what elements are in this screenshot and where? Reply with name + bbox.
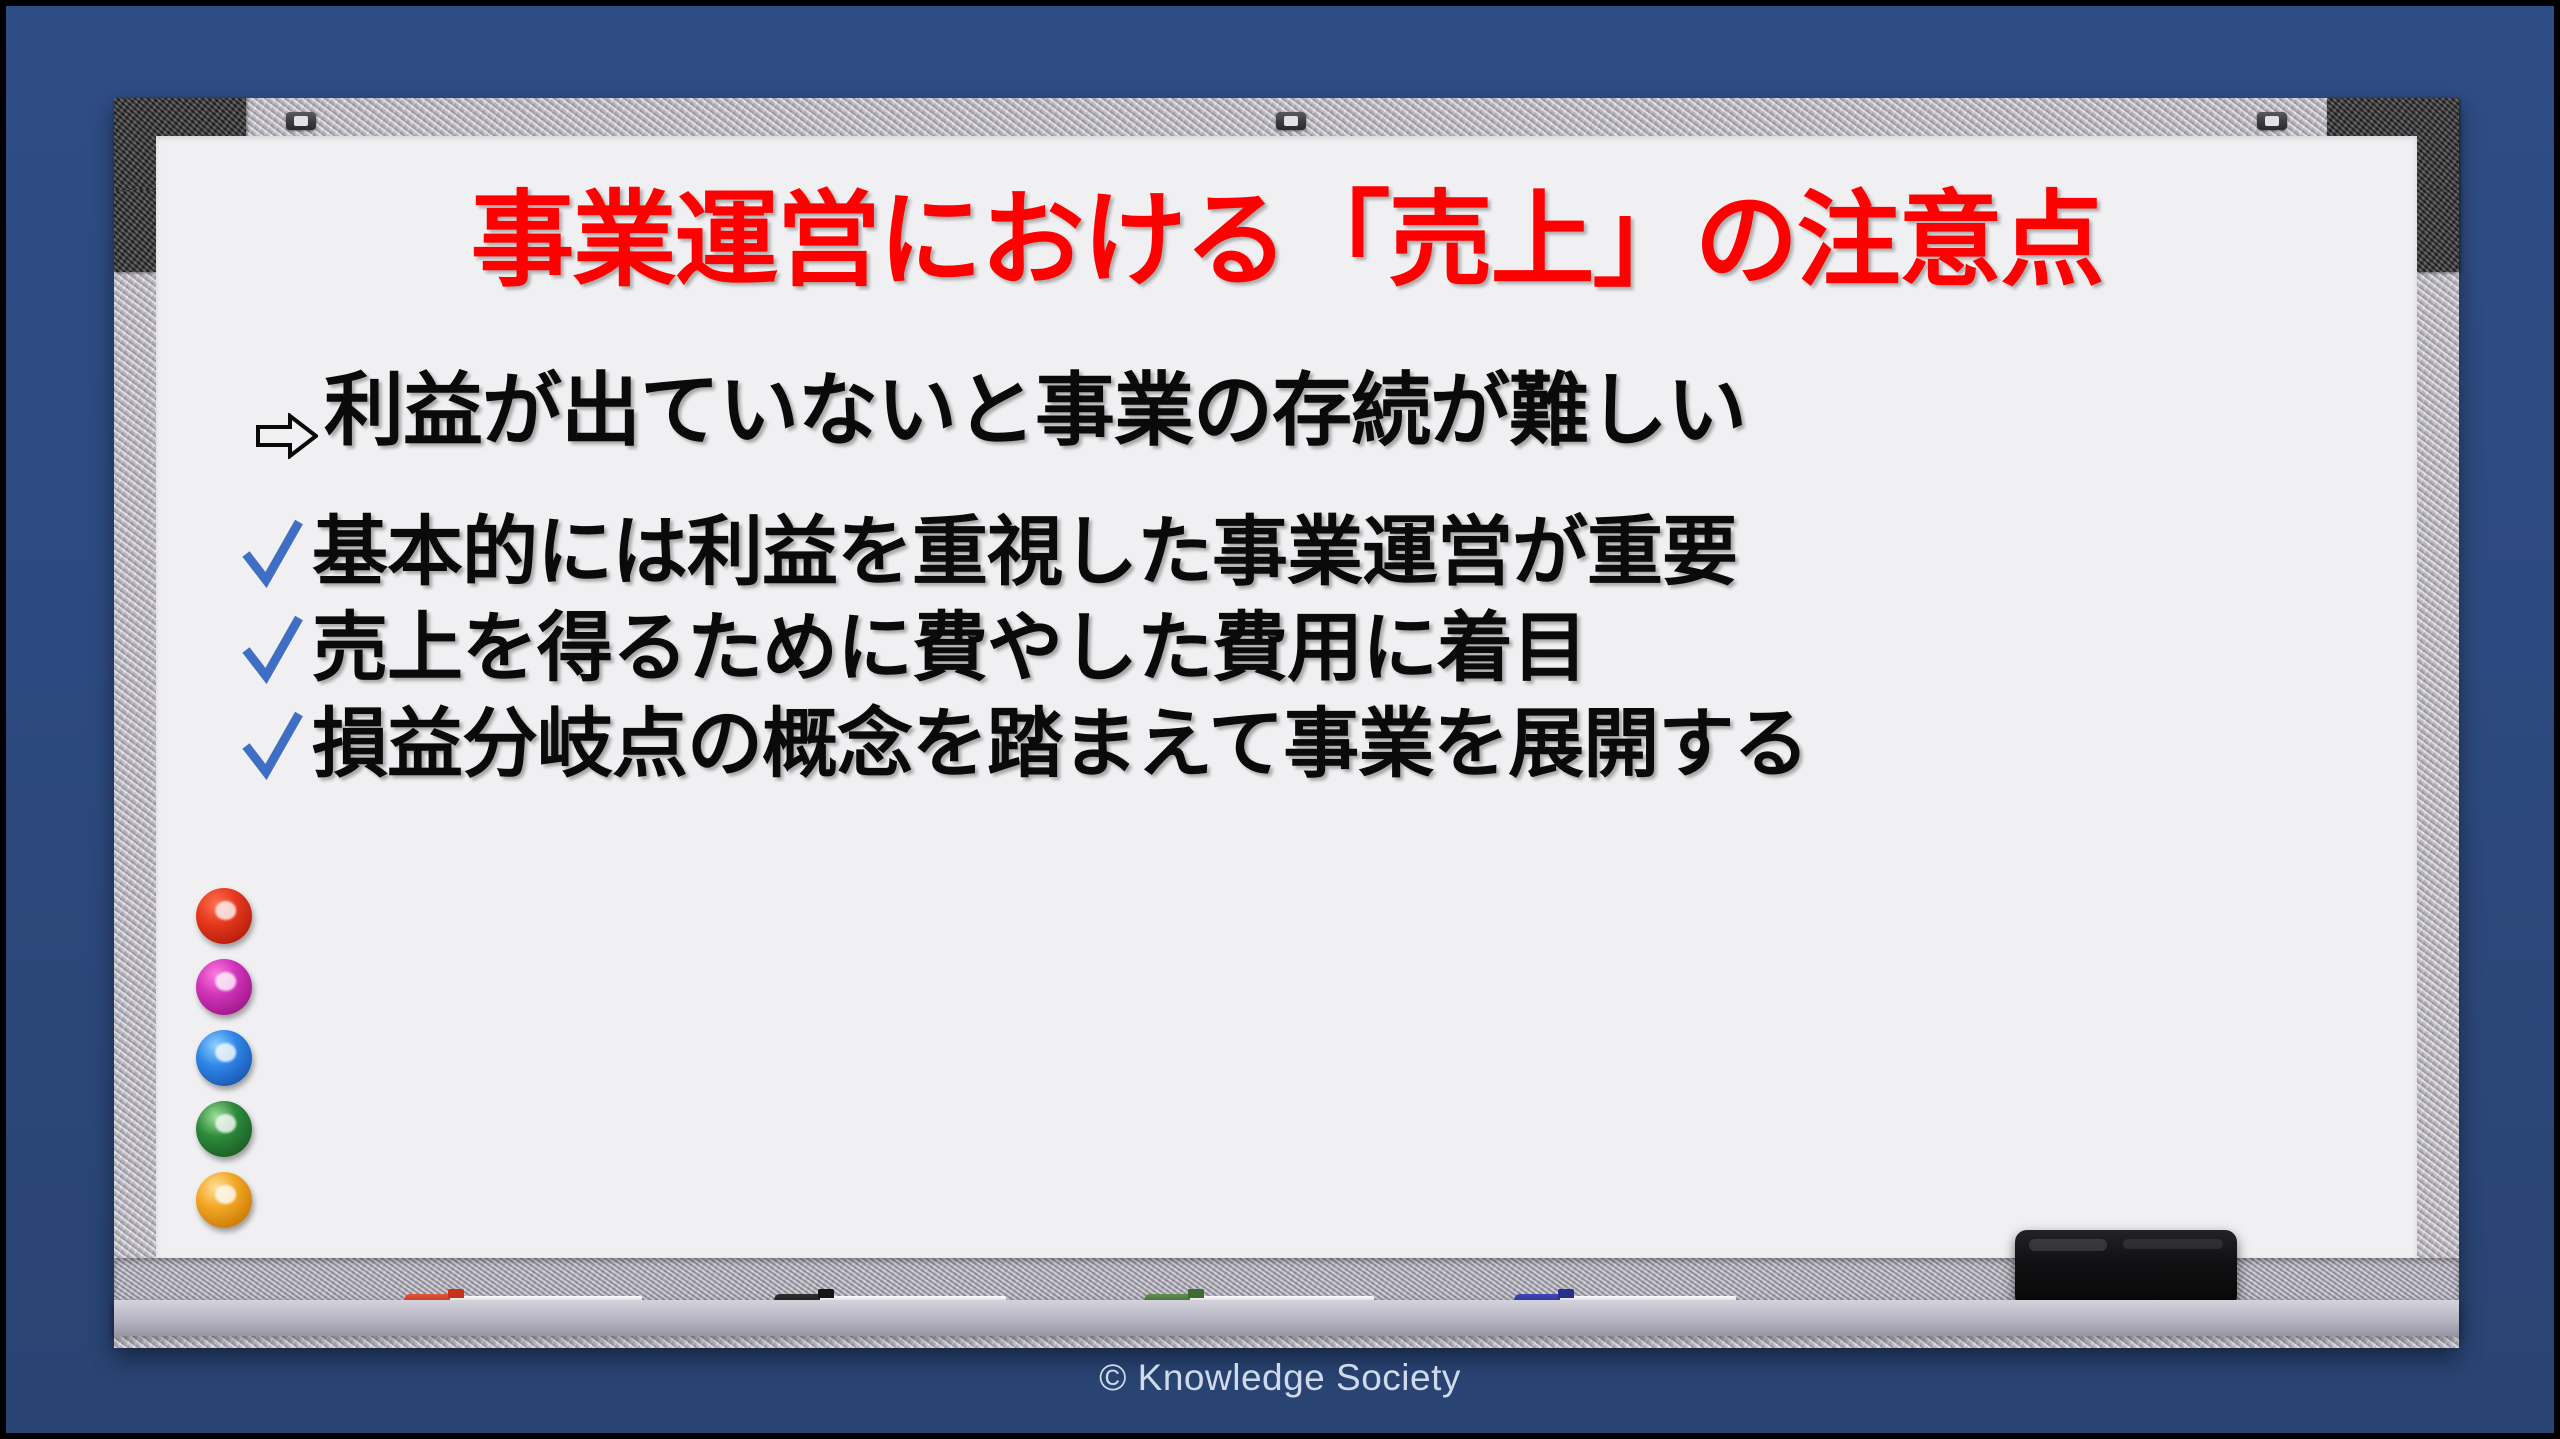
marker-clip: [818, 1289, 834, 1298]
hollow-right-arrow-icon: [256, 385, 318, 431]
slide-content: 事業運営における「売上」の注意点 利益が出ていないと事業の存続が難しい: [156, 136, 2417, 1258]
whiteboard-eraser-icon[interactable]: [2015, 1230, 2237, 1308]
blue-check-icon: [242, 518, 304, 590]
whiteboard-tray: [114, 1258, 2459, 1348]
whiteboard: 事業運営における「売上」の注意点 利益が出ていないと事業の存続が難しい: [114, 98, 2459, 1348]
slide-root: 事業運営における「売上」の注意点 利益が出ていないと事業の存続が難しい: [0, 0, 2560, 1439]
list-item: 売上を得るために費やした費用に着目: [242, 610, 2342, 686]
tray-lip: [114, 1300, 2459, 1336]
lead-statement: 利益が出ていないと事業の存続が難しい: [256, 346, 1746, 462]
list-item-label: 損益分岐点の概念を踏まえて事業を展開する: [312, 706, 1808, 782]
screw-left-icon: [286, 112, 316, 130]
blue-check-icon: [242, 614, 304, 686]
list-item: 基本的には利益を重視した事業運営が重要: [242, 514, 2342, 590]
list-item-label: 基本的には利益を重視した事業運営が重要: [312, 514, 1737, 590]
screw-center-icon: [1276, 112, 1306, 130]
list-item: 損益分岐点の概念を踏まえて事業を展開する: [242, 706, 2342, 782]
blue-check-icon: [242, 710, 304, 782]
page-title: 事業運営における「売上」の注意点: [156, 184, 2417, 296]
copyright-footer: © Knowledge Society: [6, 1357, 2554, 1399]
lead-statement-text: 利益が出ていないと事業の存続が難しい: [324, 346, 1746, 462]
screw-right-icon: [2257, 112, 2287, 130]
marker-clip: [1558, 1289, 1574, 1298]
marker-clip: [1188, 1289, 1204, 1298]
bullet-list: 基本的には利益を重視した事業運営が重要 売上を得るために費やした費用に着目: [242, 514, 2342, 802]
marker-clip: [448, 1289, 464, 1298]
list-item-label: 売上を得るために費やした費用に着目: [312, 610, 1587, 686]
